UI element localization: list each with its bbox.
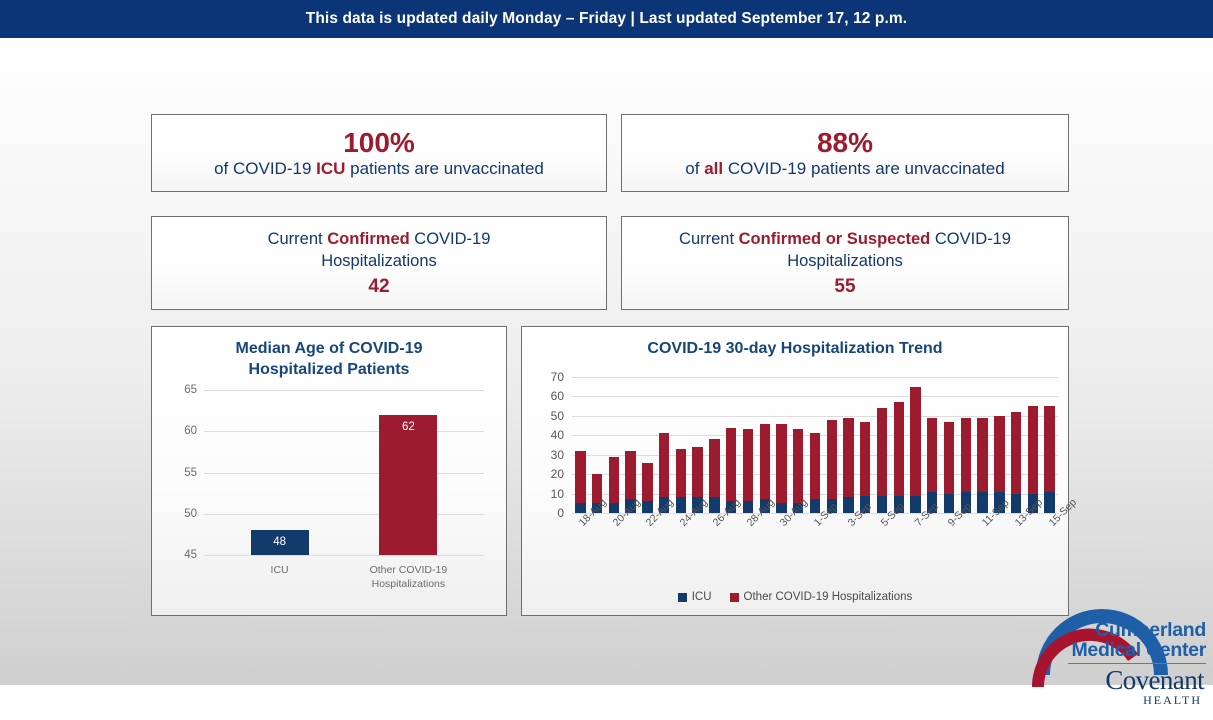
trend-bar-segment-other xyxy=(894,402,904,495)
trend-bar xyxy=(910,387,920,513)
x-axis-category-line: Other COVID-19 xyxy=(348,564,468,578)
logo-divider xyxy=(1068,663,1206,664)
trend-bar-segment-other xyxy=(776,424,786,504)
median-title-line2: Hospitalized Patients xyxy=(152,360,506,381)
trend-bar-segment-other xyxy=(860,422,870,496)
dashboard-body: 100% of COVID-19 ICU patients are unvacc… xyxy=(0,38,1213,685)
trend-bar-segment-icu xyxy=(1044,492,1054,513)
stat-caption-suffix: patients are unvaccinated xyxy=(345,159,543,178)
trend-bar xyxy=(944,422,954,513)
trend-bar xyxy=(1011,412,1021,513)
trend-bar-segment-other xyxy=(642,463,652,502)
hospitalization-title-confirmed: Current Confirmed COVID-19 Hospitalizati… xyxy=(268,228,491,273)
median-age-bar: 62 xyxy=(379,415,437,555)
trend-bar-segment-other xyxy=(1011,412,1021,494)
y-axis-tick-label: 50 xyxy=(551,409,564,423)
x-axis-category-line: ICU xyxy=(220,564,340,578)
trend-bar-segment-icu xyxy=(709,497,719,513)
trend-bar-segment-other xyxy=(726,428,736,502)
trend-bar-segment-other xyxy=(810,433,820,499)
trend-plot-area: 01020304050607018-Aug20-Aug22-Aug24-Aug2… xyxy=(572,377,1058,513)
hosp-title-line2: Hospitalizations xyxy=(268,250,491,272)
hospitalization-card-confirmed: Current Confirmed COVID-19 Hospitalizati… xyxy=(151,216,607,310)
hospitalization-title-confirmed-suspected: Current Confirmed or Suspected COVID-19 … xyxy=(679,228,1011,273)
trend-bar xyxy=(877,408,887,513)
trend-bar-segment-other xyxy=(843,418,853,498)
x-axis-category-label: ICU xyxy=(220,564,340,578)
y-axis-tick-label: 60 xyxy=(184,425,197,437)
gridline: 70 xyxy=(572,377,1058,378)
y-axis-tick-label: 55 xyxy=(184,467,197,479)
gridline: 45 xyxy=(204,555,484,556)
x-axis-category-label: Other COVID-19Hospitalizations xyxy=(348,564,468,591)
trend-bar-segment-other xyxy=(1044,406,1054,491)
logo-name-line2: Medical Center xyxy=(1071,639,1206,662)
legend-swatch xyxy=(678,593,687,602)
update-banner-text: This data is updated daily Monday – Frid… xyxy=(306,10,907,28)
trend-bar-segment-icu xyxy=(977,492,987,513)
y-axis-tick-label: 50 xyxy=(184,508,197,520)
median-age-bar: 48 xyxy=(251,530,309,555)
trend-bar xyxy=(860,422,870,513)
trend-bar-segment-other xyxy=(575,451,585,503)
trend-bar-segment-other xyxy=(676,449,686,498)
y-axis-tick-label: 20 xyxy=(551,467,564,481)
trend-bar xyxy=(961,418,971,513)
trend-bar-segment-icu xyxy=(877,496,887,513)
legend-item: Other COVID-19 Hospitalizations xyxy=(730,591,913,603)
hospitalization-card-confirmed-suspected: Current Confirmed or Suspected COVID-19 … xyxy=(621,216,1069,310)
trend-bar xyxy=(894,402,904,513)
trend-bar-segment-other xyxy=(659,433,669,497)
trend-bar-segment-other xyxy=(827,420,837,500)
trend-bar xyxy=(927,418,937,513)
legend-swatch xyxy=(730,593,739,602)
logo-health-text: HEALTH xyxy=(1143,693,1202,708)
trend-bar-segment-other xyxy=(910,387,920,496)
stat-caption-prefix: of COVID-19 xyxy=(214,159,316,178)
hosp-title-prefix: Current xyxy=(679,230,739,248)
bar-value-label: 62 xyxy=(402,421,415,433)
trend-bar xyxy=(575,451,585,513)
trend-bar xyxy=(1044,406,1054,513)
trend-bar xyxy=(776,424,786,513)
trend-bar-segment-other xyxy=(625,451,635,500)
trend-bar xyxy=(609,457,619,513)
y-axis-tick-label: 30 xyxy=(551,448,564,462)
trend-bar-segment-other xyxy=(994,416,1004,492)
trend-chart-title: COVID-19 30-day Hospitalization Trend xyxy=(522,327,1068,360)
trend-bar-segment-icu xyxy=(910,496,920,513)
y-axis-tick-label: 10 xyxy=(551,487,564,501)
trend-bar-segment-other xyxy=(944,422,954,494)
hospitalization-value-confirmed-suspected: 55 xyxy=(834,276,855,298)
hosp-title-suffix: COVID-19 xyxy=(930,230,1011,248)
trend-bar-segment-icu xyxy=(676,497,686,513)
stat-caption-highlight: ICU xyxy=(316,159,345,178)
stat-caption-prefix: of xyxy=(685,159,704,178)
trend-chart-legend: ICUOther COVID-19 Hospitalizations xyxy=(522,591,1068,603)
y-axis-tick-label: 40 xyxy=(551,428,564,442)
trend-bar xyxy=(709,439,719,513)
stat-caption-highlight: all xyxy=(704,159,723,178)
trend-bar-segment-icu xyxy=(743,501,753,513)
trend-bar xyxy=(810,433,820,513)
cumberland-medical-center-logo: Cumberland Medical Center Covenant HEALT… xyxy=(1032,583,1210,715)
trend-bar-segment-other xyxy=(692,447,702,498)
x-axis-category-line: Hospitalizations xyxy=(348,578,468,592)
gridline: 60 xyxy=(204,431,484,432)
update-banner: This data is updated daily Monday – Frid… xyxy=(0,0,1213,38)
trend-bar xyxy=(827,420,837,513)
trend-bar-segment-other xyxy=(961,418,971,492)
trend-bar-segment-other xyxy=(977,418,987,492)
hospitalization-value-confirmed: 42 xyxy=(368,276,389,298)
gridline: 65 xyxy=(204,390,484,391)
median-title-line1: Median Age of COVID-19 xyxy=(152,339,506,360)
gridline: 50 xyxy=(204,514,484,515)
trend-bar-segment-other xyxy=(709,439,719,497)
legend-item: ICU xyxy=(678,591,712,603)
legend-label: ICU xyxy=(692,591,712,603)
hospitalization-trend-chart: COVID-19 30-day Hospitalization Trend 01… xyxy=(521,326,1069,616)
y-axis-tick-label: 0 xyxy=(557,506,564,520)
trend-bar-segment-other xyxy=(760,424,770,500)
hosp-title-suffix: COVID-19 xyxy=(410,230,491,248)
median-age-chart-title: Median Age of COVID-19 Hospitalized Pati… xyxy=(152,327,506,381)
gridline: 55 xyxy=(204,473,484,474)
trend-bar-segment-other xyxy=(609,457,619,504)
stat-value-icu-unvaccinated: 100% xyxy=(343,128,415,157)
bar-value-label: 48 xyxy=(273,536,286,548)
trend-bar-segment-other xyxy=(877,408,887,495)
trend-bar xyxy=(642,463,652,514)
trend-bar xyxy=(843,418,853,513)
trend-bar-segment-other xyxy=(743,429,753,501)
trend-bar-segment-other xyxy=(1028,406,1038,493)
y-axis-tick-label: 60 xyxy=(551,389,564,403)
trend-bar-segment-icu xyxy=(843,497,853,513)
stat-caption-icu-unvaccinated: of COVID-19 ICU patients are unvaccinate… xyxy=(214,159,544,179)
trend-bar xyxy=(977,418,987,513)
stat-caption-all-unvaccinated: of all COVID-19 patients are unvaccinate… xyxy=(685,159,1004,179)
gridline: 60 xyxy=(572,396,1058,397)
y-axis-tick-label: 65 xyxy=(184,384,197,396)
trend-bar-segment-icu xyxy=(810,499,820,513)
stat-caption-suffix: COVID-19 patients are unvaccinated xyxy=(723,159,1005,178)
median-age-plot-area: 455055606548ICU62Other COVID-19Hospitali… xyxy=(204,390,484,555)
hosp-title-highlight: Confirmed or Suspected xyxy=(739,230,931,248)
hosp-title-highlight: Confirmed xyxy=(327,230,410,248)
trend-bar-segment-other xyxy=(927,418,937,492)
stat-value-all-unvaccinated: 88% xyxy=(817,128,873,157)
median-age-chart: Median Age of COVID-19 Hospitalized Pati… xyxy=(151,326,507,616)
trend-bar-segment-other xyxy=(793,429,803,503)
y-axis-tick-label: 45 xyxy=(184,549,197,561)
hosp-title-prefix: Current xyxy=(268,230,328,248)
logo-covenant-text: Covenant xyxy=(1105,665,1204,696)
gridline: 50 xyxy=(572,416,1058,417)
hosp-title-line2: Hospitalizations xyxy=(679,250,1011,272)
trend-bar xyxy=(676,449,686,513)
stat-card-all-unvaccinated: 88% of all COVID-19 patients are unvacci… xyxy=(621,114,1069,192)
trend-bar xyxy=(743,429,753,513)
legend-label: Other COVID-19 Hospitalizations xyxy=(744,591,913,603)
y-axis-tick-label: 70 xyxy=(551,370,564,384)
stat-card-icu-unvaccinated: 100% of COVID-19 ICU patients are unvacc… xyxy=(151,114,607,192)
trend-bar-segment-icu xyxy=(944,494,954,513)
trend-bar-segment-icu xyxy=(1011,494,1021,513)
